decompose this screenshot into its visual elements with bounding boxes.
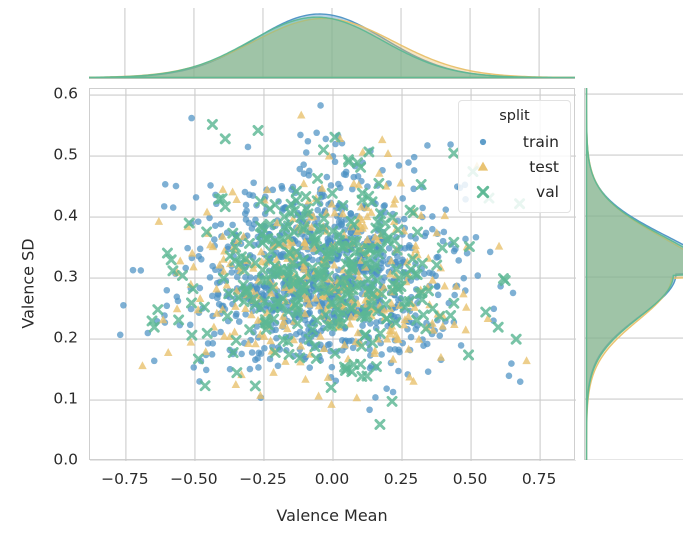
kde-y-val — [587, 88, 684, 460]
joint-plot-figure: −0.75−0.50−0.250.000.250.500.75 0.00.10.… — [0, 0, 692, 540]
marginal-x-panel — [89, 8, 575, 79]
marginal-x-kde — [89, 8, 575, 79]
x-tick-label: 0.50 — [453, 472, 488, 488]
y-axis-label: Valence SD — [19, 174, 38, 394]
marginal-y-kde — [585, 88, 683, 460]
circle-marker-icon — [468, 133, 498, 151]
x-tick-label: 0.75 — [522, 472, 557, 488]
marginal-y-panel — [584, 88, 682, 460]
legend-title: split — [468, 108, 561, 124]
kde-x-val — [89, 17, 575, 77]
legend-item-val[interactable]: val — [468, 179, 561, 204]
legend-label: val — [498, 183, 561, 201]
legend-item-test[interactable]: test — [468, 154, 561, 179]
y-tick-label: 0.1 — [30, 391, 78, 407]
legend[interactable]: split traintestval — [458, 100, 571, 213]
x-tick-label: −0.25 — [239, 472, 287, 488]
y-tick-label: 0.5 — [30, 147, 78, 163]
x-tick-label: −0.50 — [170, 472, 218, 488]
cross-marker-icon — [468, 183, 498, 201]
triangle-marker-icon — [468, 158, 498, 176]
x-tick-label: −0.75 — [101, 472, 149, 488]
x-axis-label: Valence Mean — [89, 506, 575, 525]
legend-entries[interactable]: traintestval — [468, 129, 561, 204]
x-tick-label: 0.25 — [384, 472, 419, 488]
legend-label: train — [498, 133, 561, 151]
y-tick-label: 0.0 — [30, 452, 78, 468]
legend-item-train[interactable]: train — [468, 129, 561, 154]
y-tick-label: 0.6 — [30, 86, 78, 102]
x-tick-label: 0.00 — [315, 472, 350, 488]
legend-label: test — [498, 158, 561, 176]
